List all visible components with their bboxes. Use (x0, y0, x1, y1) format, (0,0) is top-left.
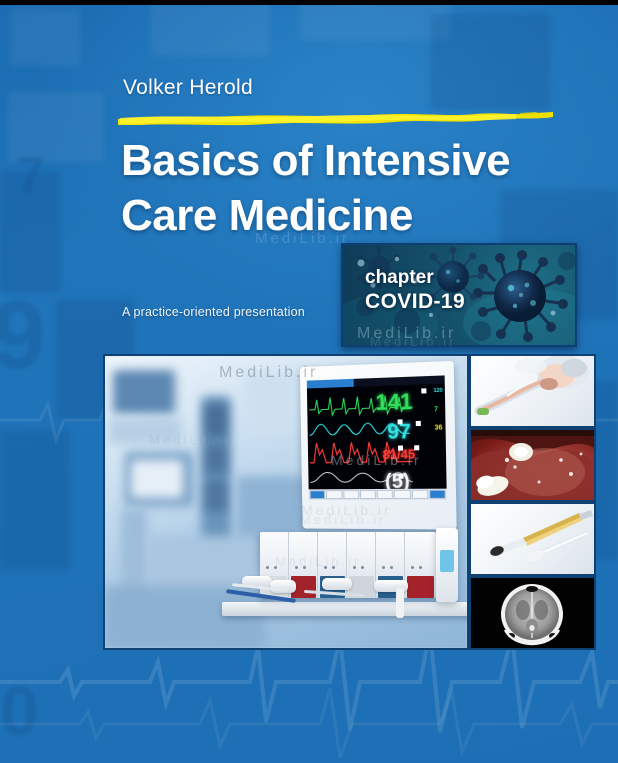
page-title: Basics of Intensive Care Medicine (121, 133, 591, 243)
iv-tubing (396, 588, 404, 618)
pump-led (361, 566, 364, 569)
icu-equipment-blob (109, 418, 181, 444)
author-name: Volker Herold (123, 76, 253, 100)
monitor-alarm-indicator (398, 474, 403, 479)
thumbnail-catheter-device (471, 504, 594, 574)
thumbnail-endoscopy (471, 430, 594, 500)
pump-module (347, 532, 376, 598)
monitor-side-value-low: 36 (434, 424, 442, 431)
pump-led (266, 566, 269, 569)
thumbnail-column (471, 356, 594, 648)
icu-equipment-blob (131, 460, 183, 498)
covid-watermark: MediLib.ir (357, 325, 456, 343)
infusion-pump-stack (260, 522, 456, 626)
monitor-softkey[interactable] (377, 490, 393, 499)
luer-connector (322, 578, 352, 590)
background-ghost-shape (300, 0, 450, 40)
pump-color-bar (407, 576, 434, 598)
monitor-side-value-mid: 7 (434, 406, 438, 413)
covid-chapter-label: chapter (365, 267, 465, 289)
monitor-softkey[interactable] (326, 490, 342, 499)
monitor-alarm-indicator (398, 446, 403, 451)
pump-led (295, 566, 298, 569)
pump-led (324, 566, 327, 569)
pump-controller-display (440, 550, 454, 572)
yellow-marker-underline (116, 106, 556, 128)
icu-photo: MediLib.ir MediLib.ir MediLib.ir MediLib… (105, 356, 467, 648)
background-ghost-number: 7 (16, 150, 45, 202)
pump-led (274, 566, 277, 569)
monitor-side-value-top: 120 (433, 389, 443, 395)
pump-module (405, 532, 434, 598)
monitor-softkey[interactable] (343, 490, 359, 499)
monitor-alarm-indicator (421, 388, 426, 393)
brain-ct-illustration (471, 578, 594, 648)
icu-equipment-blob (205, 404, 227, 438)
covid-chapter-badge: chapter COVID-19 MediLib.ir (341, 243, 577, 347)
pump-base-tray (222, 602, 467, 616)
patient-monitor: 141 97 81/45 (5) 120 7 36 (300, 361, 457, 530)
pump-led (390, 566, 393, 569)
endoscopy-illustration (471, 430, 594, 500)
pump-led (332, 566, 335, 569)
covid-badge-text: chapter COVID-19 (365, 267, 465, 315)
thumbnail-brain-ct (471, 578, 594, 648)
pump-led (353, 566, 356, 569)
photo-collage: MediLib.ir MediLib.ir MediLib.ir MediLib… (105, 356, 594, 648)
pump-led (382, 566, 385, 569)
top-black-bar (0, 0, 618, 5)
thumbnail-airway-management (471, 356, 594, 426)
icu-equipment-blob (205, 480, 227, 512)
monitor-alarm-indicator (414, 445, 419, 450)
subtitle: A practice-oriented presentation (122, 305, 305, 319)
monitor-softkey[interactable] (360, 490, 376, 499)
monitor-softkey[interactable] (310, 490, 326, 499)
icu-equipment-blob (113, 370, 175, 414)
background-ghost-shape (10, 8, 80, 66)
monitor-status-bar (307, 375, 445, 388)
catheter-illustration (471, 504, 594, 574)
monitor-screen: 141 97 81/45 (5) 120 7 36 (307, 375, 447, 500)
background-ghost-shape (430, 14, 550, 110)
monitor-heart-rate: 141 (375, 391, 412, 414)
title-line-1: Basics of Intensive (121, 136, 510, 185)
background-ghost-shape (150, 4, 270, 56)
pump-led (411, 566, 414, 569)
icu-equipment-blob (245, 374, 295, 434)
monitor-softkey[interactable] (411, 490, 428, 499)
airway-manikin-illustration (471, 356, 594, 426)
title-line-2: Care Medicine (121, 188, 591, 243)
pump-controller-unit (436, 528, 458, 602)
monitor-softkey-bar[interactable] (309, 489, 447, 500)
icu-equipment-blob (205, 444, 227, 474)
monitor-alarm-indicator (416, 421, 421, 426)
monitor-softkey[interactable] (394, 490, 411, 499)
monitor-softkey[interactable] (429, 490, 446, 499)
pump-led (419, 566, 422, 569)
book-cover: 9 0 7 Volker Herold Basics of Intensive … (0, 0, 618, 763)
covid-topic-label: COVID-19 (365, 289, 465, 315)
monitor-alarm-indicator (398, 419, 403, 424)
pump-led (303, 566, 306, 569)
